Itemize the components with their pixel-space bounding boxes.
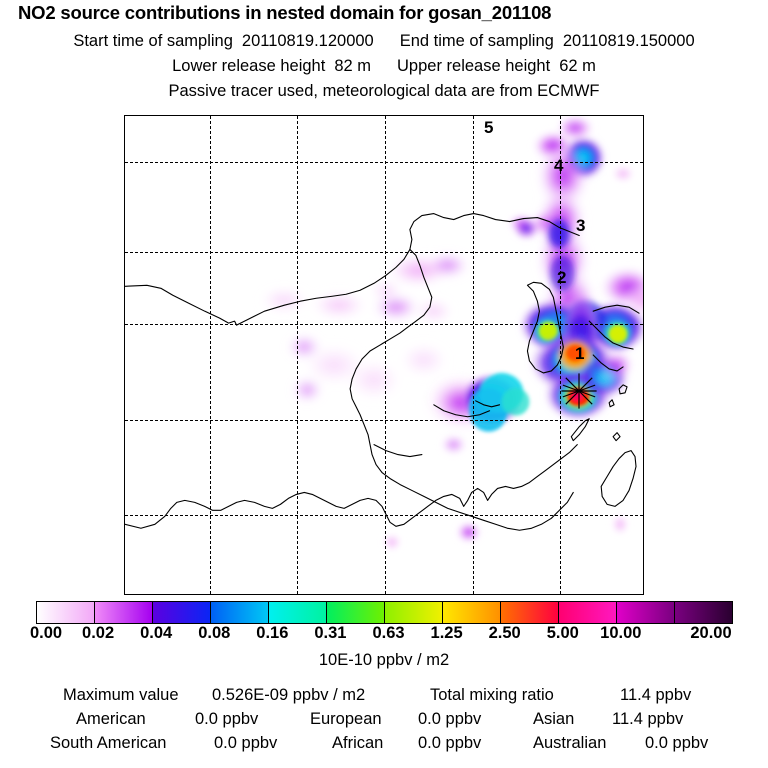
- start-time-value: 20110819.120000: [242, 32, 374, 51]
- colorbar-gradient-strip: [36, 601, 733, 624]
- region-label-african: African: [332, 734, 383, 753]
- colorbar-tick-label: 1.25: [431, 624, 463, 643]
- colorbar-tick-label: 0.63: [372, 624, 404, 643]
- region-value-african: 0.0 ppbv: [418, 734, 481, 753]
- colorbar-segment: [95, 602, 153, 623]
- colorbar-tick-label: 0.31: [314, 624, 346, 643]
- colorbar-segment: [37, 602, 95, 623]
- total-ratio-value: 11.4 ppbv: [620, 686, 691, 705]
- sampling-time-line: Start time of sampling20110819.120000End…: [0, 32, 768, 51]
- trajectory-marker-2: 2: [557, 269, 566, 286]
- summary-row-regions-1: American 0.0 ppbv European 0.0 ppbv Asia…: [0, 710, 768, 734]
- page-title: NO2 source contributions in nested domai…: [18, 2, 758, 24]
- region-label-american: American: [76, 710, 146, 729]
- max-value-value: 0.526E-09 ppbv / m2: [212, 686, 365, 705]
- region-label-european: European: [310, 710, 382, 729]
- trajectory-marker-4: 4: [554, 157, 563, 174]
- region-label-asian: Asian: [533, 710, 574, 729]
- trajectory-marker-1: 1: [575, 345, 584, 362]
- colorbar-segment: [501, 602, 559, 623]
- trajectory-marker-5: 5: [484, 119, 493, 136]
- release-site-star-icon: [557, 369, 601, 413]
- release-height-line: Lower release height82 mUpper release he…: [0, 57, 768, 76]
- trajectory-markers: 5 4 3 2 1: [125, 116, 643, 594]
- map-plot-area: 5 4 3 2 1: [124, 115, 644, 595]
- colorbar-tick-label: 0.02: [82, 624, 114, 643]
- colorbar-segment: [443, 602, 501, 623]
- upper-height-value: 62 m: [559, 57, 596, 76]
- colorbar-tick-label: 10.00: [600, 624, 641, 643]
- colorbar-tick-label: 0.00: [30, 624, 62, 643]
- region-value-australian: 0.0 ppbv: [645, 734, 708, 753]
- region-value-asian: 11.4 ppbv: [612, 710, 683, 729]
- region-value-south-american: 0.0 ppbv: [214, 734, 277, 753]
- colorbar-segment: [211, 602, 269, 623]
- trajectory-marker-3: 3: [576, 217, 585, 234]
- colorbar-segment: [153, 602, 211, 623]
- tracer-note: Passive tracer used, meteorological data…: [0, 82, 768, 101]
- colorbar: [36, 601, 733, 624]
- region-label-south-american: South American: [50, 734, 166, 753]
- start-time-label: Start time of sampling: [73, 32, 233, 51]
- region-label-australian: Australian: [533, 734, 606, 753]
- end-time-label: End time of sampling: [400, 32, 554, 51]
- colorbar-segment: [559, 602, 617, 623]
- region-value-european: 0.0 ppbv: [418, 710, 481, 729]
- max-value-label: Maximum value: [63, 686, 179, 705]
- colorbar-tick-labels: 0.000.020.040.080.160.310.631.252.505.00…: [0, 624, 768, 646]
- summary-row-regions-2: South American 0.0 ppbv African 0.0 ppbv…: [0, 734, 768, 758]
- colorbar-tick-label: 20.00: [690, 624, 731, 643]
- colorbar-tick-label: 0.04: [140, 624, 172, 643]
- colorbar-segment: [269, 602, 327, 623]
- end-time-value: 20110819.150000: [563, 32, 695, 51]
- colorbar-segment: [617, 602, 675, 623]
- lower-height-label: Lower release height: [172, 57, 325, 76]
- colorbar-unit-label: 10E-10 ppbv / m2: [0, 651, 768, 670]
- upper-height-label: Upper release height: [397, 57, 550, 76]
- total-ratio-label: Total mixing ratio: [430, 686, 554, 705]
- colorbar-segment: [327, 602, 385, 623]
- colorbar-tick-label: 0.16: [256, 624, 288, 643]
- colorbar-segment: [385, 602, 443, 623]
- colorbar-segment: [675, 602, 732, 623]
- colorbar-tick-label: 2.50: [489, 624, 521, 643]
- colorbar-tick-label: 0.08: [198, 624, 230, 643]
- colorbar-tick-label: 5.00: [547, 624, 579, 643]
- summary-row-totals: Maximum value 0.526E-09 ppbv / m2 Total …: [0, 686, 768, 710]
- lower-height-value: 82 m: [334, 57, 371, 76]
- region-value-american: 0.0 ppbv: [195, 710, 258, 729]
